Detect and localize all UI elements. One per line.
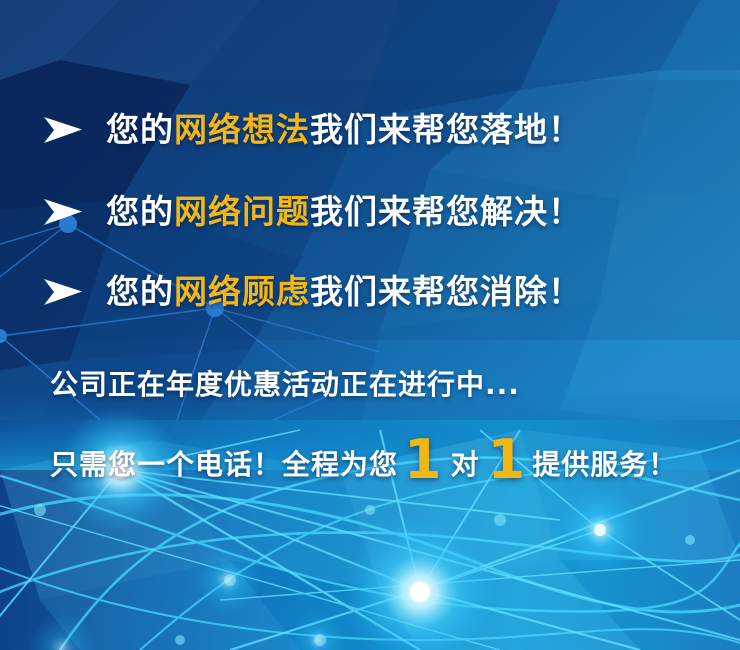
one-to-one-connector: 对 (449, 443, 482, 483)
arrow-right-icon (40, 195, 86, 229)
promo-banner: 您的网络想法我们来帮您落地！ 您的网络问题我们来帮您解决！ 您的网络顾虑我们来帮… (0, 0, 740, 650)
headline-suffix: 我们来帮您落地！ (310, 110, 582, 149)
banner-content: 您的网络想法我们来帮您落地！ 您的网络问题我们来帮您解决！ 您的网络顾虑我们来帮… (0, 0, 740, 650)
headline-text: 您的网络顾虑我们来帮您消除！ (106, 269, 582, 315)
headline-highlight: 网络问题 (174, 192, 310, 231)
promo-subline-2: 只需您一个电话！全程为您 1 对 1 提供服务！ (50, 430, 677, 483)
promo-subline-1: 公司正在年度优惠活动正在进行中... (50, 363, 520, 403)
headline-suffix: 我们来帮您解决！ (310, 192, 582, 231)
subline-lead: 只需您一个电话！全程为您 (50, 443, 398, 483)
headline-highlight: 网络想法 (174, 110, 310, 149)
headline-suffix: 我们来帮您消除！ (310, 272, 582, 311)
headline-text: 您的网络想法我们来帮您落地！ (106, 107, 582, 153)
one-to-one-second-digit: 1 (482, 434, 533, 485)
one-to-one-first-digit: 1 (398, 434, 449, 485)
headline-prefix: 您的 (106, 110, 174, 149)
headline-text: 您的网络问题我们来帮您解决！ (106, 189, 582, 235)
headline-prefix: 您的 (106, 272, 174, 311)
headline-prefix: 您的 (106, 192, 174, 231)
headline-highlight: 网络顾虑 (174, 272, 310, 311)
arrow-right-icon (40, 275, 86, 309)
bullet-row: 您的网络顾虑我们来帮您消除！ (40, 268, 582, 316)
bullet-row: 您的网络问题我们来帮您解决！ (40, 188, 582, 236)
arrow-right-icon (40, 113, 86, 147)
bullet-row: 您的网络想法我们来帮您落地！ (40, 106, 582, 154)
subline-tail: 提供服务！ (532, 443, 677, 483)
